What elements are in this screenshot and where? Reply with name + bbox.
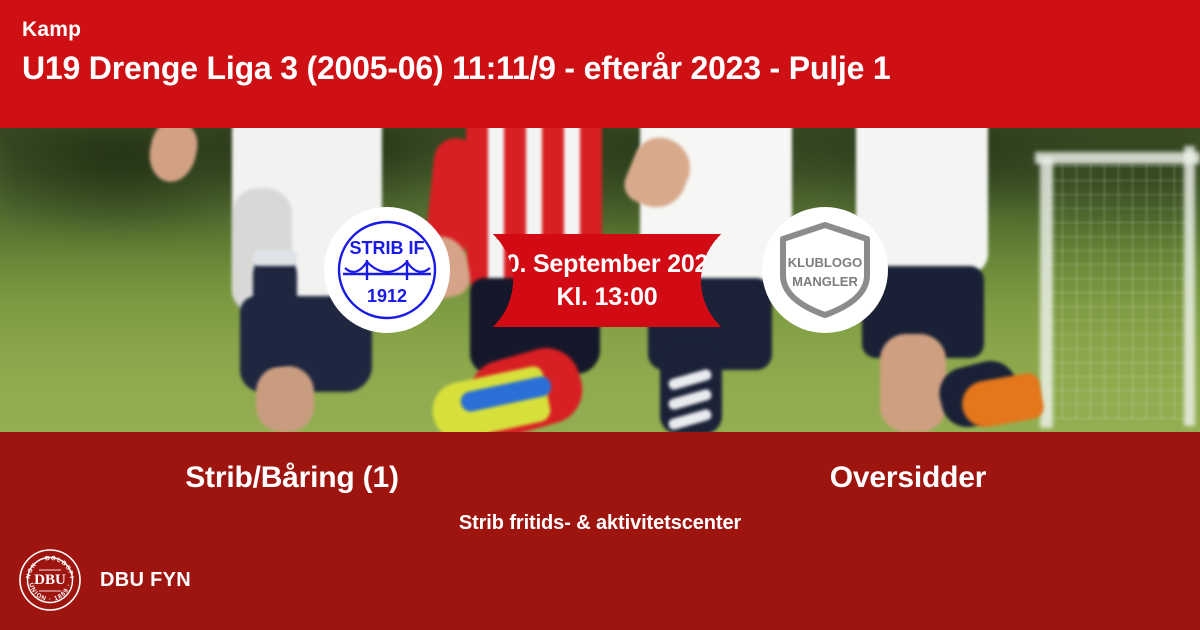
home-crest-name: STRIB IF [350, 238, 425, 258]
match-date: 10. September 2023 [492, 248, 722, 281]
teams-row: Strib/Båring (1) Oversidder [0, 460, 1200, 496]
away-team-name: Oversidder [600, 460, 1200, 496]
page-title: U19 Drenge Liga 3 (2005-06) 11:11/9 - ef… [22, 50, 1200, 87]
away-club-badge: KLUBLOGO MANGLER [762, 207, 888, 333]
organisation-label: DBU FYN [100, 569, 191, 592]
dbu-monogram: DBU [34, 572, 66, 588]
home-club-badge: STRIB IF 1912 [324, 207, 450, 333]
home-crest-year: 1912 [367, 286, 407, 306]
player-one-leg [256, 366, 314, 432]
away-logo-line-two: MANGLER [792, 274, 858, 289]
shield-placeholder-icon: KLUBLOGO MANGLER [777, 220, 873, 320]
match-time: Kl. 13:00 [556, 281, 657, 314]
poster-header: Kamp U19 Drenge Liga 3 (2005-06) 11:11/9… [0, 0, 1200, 128]
venue-name: Strib fritids- & aktivitetscenter [0, 512, 1200, 535]
header-kicker: Kamp [22, 18, 1200, 41]
player-four-leg [880, 334, 946, 432]
dbu-seal-icon: DANSK · BOLDSPIL · UNION · 1889 · DBU [18, 548, 82, 612]
match-poster: Kamp U19 Drenge Liga 3 (2005-06) 11:11/9… [0, 0, 1200, 630]
goal-crossbar [1035, 152, 1200, 164]
home-team-name: Strib/Båring (1) [0, 460, 600, 496]
match-date-band: 10. September 2023 Kl. 13:00 [444, 234, 770, 327]
match-photo: 10. September 2023 Kl. 13:00 STRIB IF 19… [0, 128, 1200, 432]
goal-net [1048, 164, 1188, 419]
strib-if-crest-icon: STRIB IF 1912 [335, 218, 439, 322]
organisation-footer: DANSK · BOLDSPIL · UNION · 1889 · DBU DB… [18, 548, 191, 612]
player-one-sock-band [253, 250, 297, 266]
player-one-sock [253, 256, 297, 366]
away-logo-line-one: KLUBLOGO [788, 255, 862, 270]
